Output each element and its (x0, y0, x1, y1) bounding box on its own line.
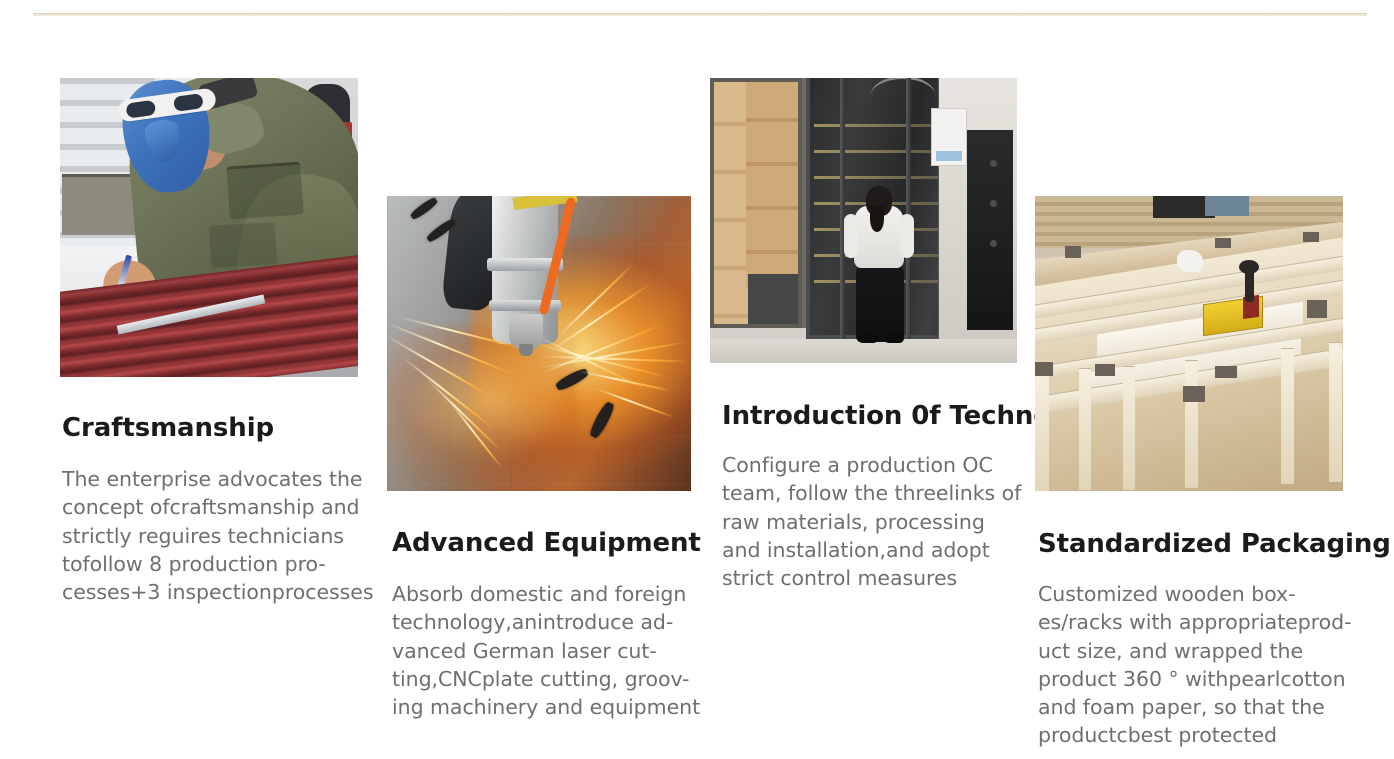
jacket-pocket2-shape (209, 222, 277, 267)
body-line: raw materials, processing (722, 508, 1050, 536)
crate-side-stile (1329, 342, 1342, 482)
body-line: strict control measures (722, 564, 1050, 592)
goggles-right-lens (173, 93, 204, 112)
background-blue-wall (1205, 196, 1249, 216)
crate-corner-bracket (1183, 386, 1205, 402)
feature-card-introduction-of-technology: Introduction 0f Technology Configure a p… (710, 78, 1050, 592)
crate-side-stile (1079, 368, 1091, 490)
body-line: technology,anintroduce ad- (392, 608, 717, 636)
jacket-pocket-shape (226, 161, 304, 219)
body-line: cesses+3 inspectionprocesses (62, 578, 390, 606)
body-line: tofollow 8 production pro- (62, 550, 390, 578)
feature-card-standardized-packaging: Standardized Packaging Customized wooden… (1035, 196, 1375, 750)
feature-card-craftsmanship: Craftsmanship The enterprise advocates t… (60, 78, 390, 606)
body-line: The enterprise advocates the (62, 465, 390, 493)
card-body-standardized-packaging: Customized wooden box- es/racks with app… (1038, 580, 1375, 750)
body-line: concept ofcraftsmanship and (62, 493, 390, 521)
right-dark-door (967, 130, 1013, 330)
crate-corner-bracket (1095, 364, 1115, 376)
body-line: Configure a production OC (722, 451, 1050, 479)
card-title-introduction-of-technology: Introduction 0f Technology (722, 401, 1050, 431)
body-line: and foam paper, so that the (1038, 693, 1375, 721)
card-title-advanced-equipment: Advanced Equipment (392, 528, 717, 558)
body-line: strictly reguires technicians (62, 522, 390, 550)
card-title-craftsmanship: Craftsmanship (62, 413, 390, 443)
visitor-legs-shape (856, 264, 904, 342)
introduction-of-technology-photo (710, 78, 1017, 363)
advanced-equipment-photo (387, 196, 691, 491)
door-handle-dot (990, 200, 997, 207)
body-line: ing machinery and equipment (392, 693, 717, 721)
card-body-advanced-equipment: Absorb domestic and foreign technology,a… (392, 580, 717, 721)
crate-corner-bracket (1215, 366, 1237, 378)
visitor-left-arm (844, 214, 858, 258)
craftsmanship-photo (60, 78, 358, 377)
door-handle-dot (990, 240, 997, 247)
visitor-shoe (884, 334, 904, 343)
door-handle-dot (990, 160, 997, 167)
goggles-left-lens (125, 100, 156, 119)
crate-corner-bracket (1307, 300, 1327, 318)
visitor-shoe (858, 334, 878, 343)
body-line: productcbest protected (1038, 721, 1375, 749)
body-line: team, follow the threelinks of (722, 479, 1050, 507)
visitor-right-arm (900, 214, 914, 258)
body-line: and installation,and adopt (722, 536, 1050, 564)
crate-corner-bracket (1303, 232, 1319, 242)
plastic-bag-on-crate (1177, 250, 1203, 272)
body-line: uct size, and wrapped the (1038, 637, 1375, 665)
feature-card-advanced-equipment: Advanced Equipment Absorb domestic and f… (387, 196, 717, 721)
door-mullion (906, 78, 911, 339)
header-divider-rule (33, 13, 1367, 16)
card-body-introduction-of-technology: Configure a production OC team, follow t… (722, 451, 1050, 592)
poster-color-bar (936, 151, 962, 161)
tool-knob-shape (1239, 260, 1259, 274)
body-line: ting,CNCplate cutting, groov- (392, 665, 717, 693)
body-line: product 360 ° withpearlcotton (1038, 665, 1375, 693)
wood-panel-frame (710, 78, 802, 328)
crate-side-stile (1035, 372, 1049, 491)
crate-corner-bracket (1215, 238, 1231, 248)
visitor-ponytail-shape (870, 206, 884, 232)
body-line: es/racks with appropriateprod- (1038, 608, 1375, 636)
crate-corner-bracket (1035, 362, 1053, 376)
body-line: Customized wooden box- (1038, 580, 1375, 608)
crate-side-stile (1281, 348, 1294, 484)
door-mullion (840, 78, 845, 339)
crate-side-stile (1123, 366, 1135, 490)
card-body-craftsmanship: The enterprise advocates the concept ofc… (62, 465, 390, 606)
card-title-standardized-packaging: Standardized Packaging (1038, 529, 1375, 559)
crate-corner-bracket (1065, 246, 1081, 258)
body-line: Absorb domestic and foreign (392, 580, 717, 608)
standardized-packaging-photo (1035, 196, 1343, 491)
crate-side-stile (1185, 360, 1198, 488)
body-line: vanced German laser cut- (392, 637, 717, 665)
wall-poster (931, 108, 967, 166)
